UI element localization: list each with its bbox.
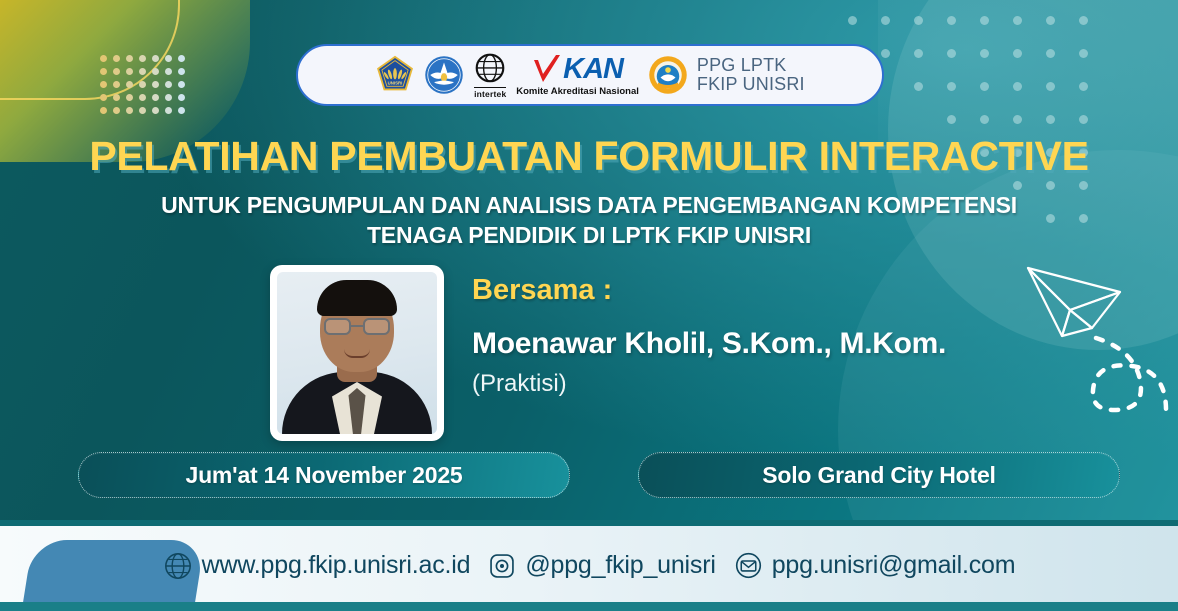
paper-plane-icon (1008, 258, 1178, 438)
speaker-role: (Praktisi) (472, 370, 567, 398)
event-venue-text: Solo Grand City Hotel (762, 462, 995, 489)
unisri-seal-logo: UNISRI (375, 55, 415, 95)
instagram-text: @ppg_fkip_unisri (525, 551, 715, 580)
event-date-pill: Jum'at 14 November 2025 (78, 452, 570, 498)
event-flyer-banner: UNISRI intertek (0, 0, 1178, 611)
event-date-text: Jum'at 14 November 2025 (185, 462, 462, 489)
ppg-line-2: FKIP UNISRI (697, 75, 805, 94)
envelope-icon (734, 551, 763, 580)
accreditation-logo-bar: UNISRI intertek (296, 44, 884, 106)
kan-label: KAN (563, 55, 623, 84)
speaker-portrait-frame (270, 265, 444, 441)
subtitle-line-2: TENAGA PENDIDIK DI LPTK FKIP UNISRI (0, 221, 1178, 251)
contact-instagram[interactable]: @ppg_fkip_unisri (488, 551, 715, 580)
contact-email[interactable]: ppg.unisri@gmail.com (734, 551, 1016, 580)
page-title: PELATIHAN PEMBUATAN FORMULIR INTERACTIVE (0, 133, 1178, 180)
kan-sublabel: Komite Akreditasi Nasional (516, 87, 639, 97)
subtitle-line-1: UNTUK PENGUMPULAN DAN ANALISIS DATA PENG… (0, 191, 1178, 221)
diktisaintek-berdampak-logo (648, 55, 688, 95)
email-text: ppg.unisri@gmail.com (772, 551, 1016, 580)
svg-text:UNISRI: UNISRI (388, 80, 403, 85)
instagram-icon (488, 552, 516, 580)
page-subtitle: UNTUK PENGUMPULAN DAN ANALISIS DATA PENG… (0, 191, 1178, 251)
kan-check-icon (532, 54, 562, 86)
speaker-intro-label: Bersama : (472, 274, 612, 307)
speaker-portrait (277, 272, 437, 434)
ppg-line-1: PPG LPTK (697, 56, 805, 75)
contact-website[interactable]: www.ppg.fkip.unisri.ac.id (163, 551, 471, 581)
kan-logo: KAN Komite Akreditasi Nasional (516, 54, 639, 97)
event-venue-pill: Solo Grand City Hotel (638, 452, 1120, 498)
globe-icon (163, 551, 193, 581)
speaker-name: Moenawar Kholil, S.Kom., M.Kom. (472, 327, 946, 361)
contact-footer: www.ppg.fkip.unisri.ac.id @ppg_fkip_unis… (0, 520, 1178, 611)
glasses-icon (324, 318, 390, 336)
ppg-lptk-label: PPG LPTK FKIP UNISRI (697, 56, 805, 95)
website-text: www.ppg.fkip.unisri.ac.id (202, 551, 471, 580)
intertek-label: intertek (474, 87, 506, 99)
intertek-logo: intertek (473, 52, 507, 99)
dot-grid-decoration (100, 55, 191, 120)
tut-wuri-handayani-logo (424, 55, 464, 95)
